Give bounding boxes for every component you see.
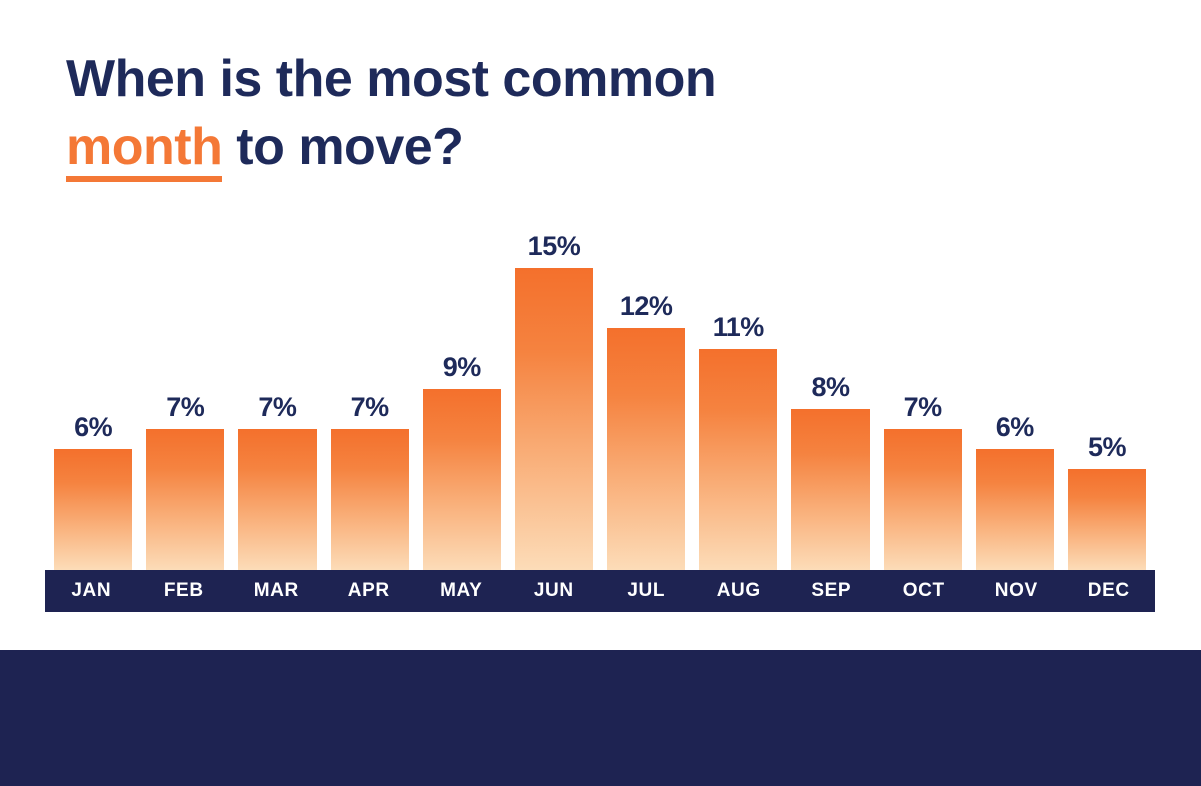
month-label-may[interactable]: MAY (415, 580, 508, 602)
month-label-dec[interactable]: DEC (1063, 580, 1156, 602)
bar-column[interactable]: 5% (1068, 210, 1146, 570)
month-label-aug[interactable]: AUG (693, 580, 786, 602)
bar-column[interactable]: 8% (791, 210, 869, 570)
month-label-feb[interactable]: FEB (138, 580, 231, 602)
bar-value-label: 15% (528, 231, 581, 262)
month-label-apr[interactable]: APR (323, 580, 416, 602)
month-label-sep[interactable]: SEP (785, 580, 878, 602)
bar-rect[interactable] (791, 409, 869, 570)
bar-value-label: 7% (351, 392, 389, 423)
bar-rect[interactable] (976, 449, 1054, 570)
page-title: When is the most common month to move? (66, 46, 966, 182)
bar-value-label: 8% (811, 372, 849, 403)
bar-rect[interactable] (515, 268, 593, 570)
bar-column[interactable]: 6% (54, 210, 132, 570)
bar-rect[interactable] (699, 349, 777, 570)
bar-column[interactable]: 9% (423, 210, 501, 570)
bar-column[interactable]: 12% (607, 210, 685, 570)
bar-column[interactable]: 15% (515, 210, 593, 570)
bar-rect[interactable] (238, 429, 316, 570)
bar-rect[interactable] (607, 328, 685, 570)
bar-column[interactable]: 7% (146, 210, 224, 570)
title-line-two: month to move? (66, 114, 966, 183)
month-label-jun[interactable]: JUN (508, 580, 601, 602)
bar-value-label: 12% (620, 291, 673, 322)
bar-column[interactable]: 6% (976, 210, 1054, 570)
month-label-oct[interactable]: OCT (878, 580, 971, 602)
bar-rect[interactable] (884, 429, 962, 570)
title-line-two-rest: to move? (222, 118, 463, 176)
bar-rect[interactable] (331, 429, 409, 570)
bar-chart: 6%7%7%7%9%15%12%11%8%7%6%5% (45, 210, 1155, 570)
footer-band: Source: We analyzed move data collected … (0, 650, 1201, 786)
bar-value-label: 6% (996, 412, 1034, 443)
month-label-nov[interactable]: NOV (970, 580, 1063, 602)
bar-value-label: 9% (443, 352, 481, 383)
bar-column[interactable]: 7% (884, 210, 962, 570)
bar-rect[interactable] (1068, 469, 1146, 570)
bar-value-label: 7% (258, 392, 296, 423)
bar-column[interactable]: 7% (238, 210, 316, 570)
bar-rect[interactable] (423, 389, 501, 570)
bar-column[interactable]: 7% (331, 210, 409, 570)
month-label-mar[interactable]: MAR (230, 580, 323, 602)
bar-series: 6%7%7%7%9%15%12%11%8%7%6%5% (45, 210, 1155, 570)
infographic-canvas: When is the most common month to move? 6… (0, 0, 1201, 786)
title-highlight-word: month (66, 120, 222, 183)
bar-rect[interactable] (54, 449, 132, 570)
bar-column[interactable]: 11% (699, 210, 777, 570)
bar-value-label: 7% (904, 392, 942, 423)
month-axis-band: JANFEBMARAPRMAYJUNJULAUGSEPOCTNOVDEC (45, 570, 1155, 612)
bar-value-label: 7% (166, 392, 204, 423)
month-label-jul[interactable]: JUL (600, 580, 693, 602)
bar-value-label: 5% (1088, 432, 1126, 463)
title-line-one: When is the most common (66, 46, 966, 114)
bar-rect[interactable] (146, 429, 224, 570)
month-label-jan[interactable]: JAN (45, 580, 138, 602)
bar-value-label: 6% (74, 412, 112, 443)
bar-value-label: 11% (713, 312, 764, 343)
